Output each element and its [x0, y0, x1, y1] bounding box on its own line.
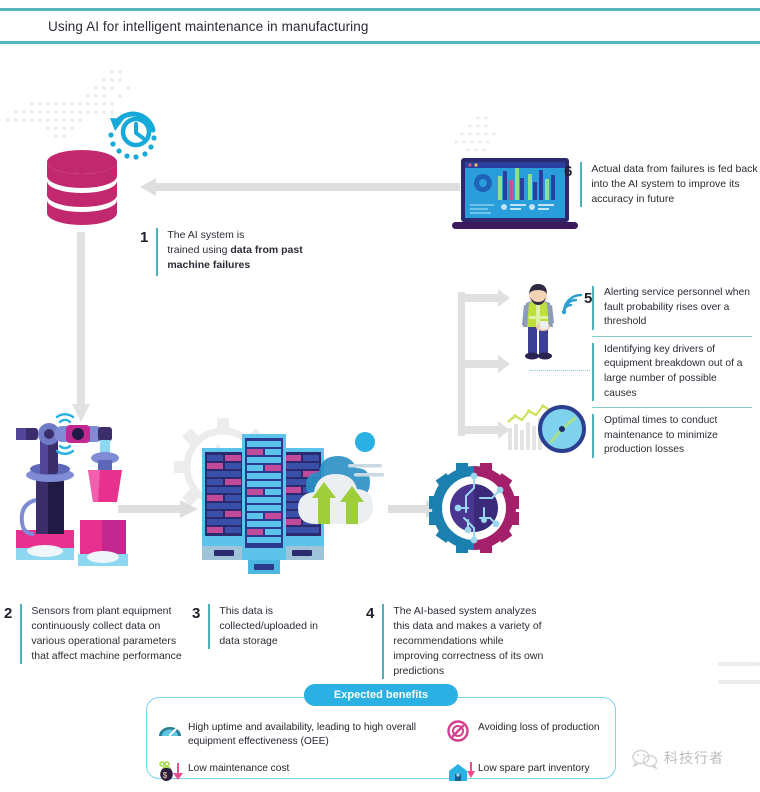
step-6-number: 6	[564, 162, 572, 180]
outcome-item-3: Optimal times to conduct maintenance to …	[592, 414, 752, 458]
benefit-label-uptime: High uptime and availability, leading to…	[188, 720, 447, 749]
outcome-separator-2	[592, 407, 752, 408]
step-3-rule	[208, 604, 210, 649]
step-6-text: Actual data from failures is fed back in…	[591, 162, 760, 207]
step-3-number: 3	[192, 604, 200, 622]
warehouse-icon	[447, 761, 473, 783]
outcome-item-1: Alerting service personnel when fault pr…	[592, 286, 752, 330]
step-1-text: The AI system is trained using data from…	[167, 228, 302, 273]
benefit-label-spare-inventory: Low spare part inventory	[478, 761, 590, 776]
svg-text:$: $	[163, 771, 168, 780]
no-entry-icon	[447, 720, 473, 742]
step-1-rule	[156, 228, 158, 276]
expected-benefits-pill: Expected benefits	[304, 684, 458, 706]
history-clock-icon	[102, 106, 164, 164]
halftone-dots-decoration-2	[448, 112, 538, 162]
benefit-label-maint-cost: Low maintenance cost	[188, 761, 289, 776]
money-bag-icon: $	[157, 761, 183, 783]
step-1-line-1: The AI system is	[167, 229, 244, 241]
benefit-item-maint-cost: $ Low maintenance cost	[157, 761, 447, 783]
gauge-icon	[157, 720, 183, 742]
step-1: 1 The AI system is trained using data fr…	[140, 228, 330, 276]
step-4-text: The AI-based system analyzes this data a…	[393, 604, 546, 679]
laptop-dashboard-icon	[452, 158, 580, 232]
step-2: 2 Sensors from plant equipment continuou…	[4, 604, 189, 664]
step-1-line-2a: trained using	[167, 244, 230, 256]
outcome-item-2: Identifying key drivers of equipment bre…	[592, 343, 752, 401]
expected-benefits-panel: Expected benefits High uptime and availa…	[146, 697, 616, 779]
watermark-text: 科技行者	[664, 748, 724, 768]
vertical-flow-arrow	[71, 232, 93, 422]
step-6: 6 Actual data from failures is fed back …	[564, 162, 760, 207]
edge-stub-line-2	[718, 680, 760, 684]
step-6-rule	[580, 162, 582, 207]
robot-arm-icon	[10, 412, 140, 577]
step-1-number: 1	[140, 228, 148, 246]
step-2-rule	[20, 604, 22, 664]
wifi-signal-icon	[560, 294, 586, 316]
benefits-grid: High uptime and availability, leading to…	[157, 720, 607, 783]
outcome-dotted-divider	[530, 370, 590, 371]
benefit-label-no-loss: Avoiding loss of production	[478, 720, 600, 735]
step-2-text: Sensors from plant equipment continuousl…	[31, 604, 189, 664]
edge-stub-line-1	[718, 662, 760, 666]
benefit-item-uptime: High uptime and availability, leading to…	[157, 720, 447, 749]
outcome-separator-1	[592, 336, 752, 337]
step-4-number: 4	[366, 604, 374, 622]
ai-brain-gear-icon	[428, 462, 520, 554]
outcomes-list: Alerting service personnel when fault pr…	[592, 286, 752, 458]
technician-icon	[516, 283, 564, 361]
gauge-dial-icon	[506, 396, 592, 462]
infographic-canvas: 1 The AI system is trained using data fr…	[0, 0, 760, 792]
step-4: 4 The AI-based system analyzes this data…	[366, 604, 546, 679]
cloud-upload-icon	[290, 428, 390, 538]
step-3: 3 This data is collected/uploaded in dat…	[192, 604, 322, 649]
benefit-item-spare-inventory: Low spare part inventory	[447, 761, 607, 783]
step-1-line-3: machine failures	[167, 259, 250, 271]
benefit-item-no-loss: Avoiding loss of production	[447, 720, 607, 749]
step-2-number: 2	[4, 604, 12, 622]
step-1-line-2b: data from past	[230, 244, 302, 256]
feedback-arrow-to-database	[140, 178, 460, 198]
step-3-text: This data is collected/uploaded in data …	[219, 604, 322, 649]
step-4-rule	[382, 604, 384, 679]
wechat-logo-icon	[632, 748, 658, 768]
watermark: 科技行者	[632, 748, 724, 768]
flow-arrow-robot-to-server	[118, 500, 198, 518]
